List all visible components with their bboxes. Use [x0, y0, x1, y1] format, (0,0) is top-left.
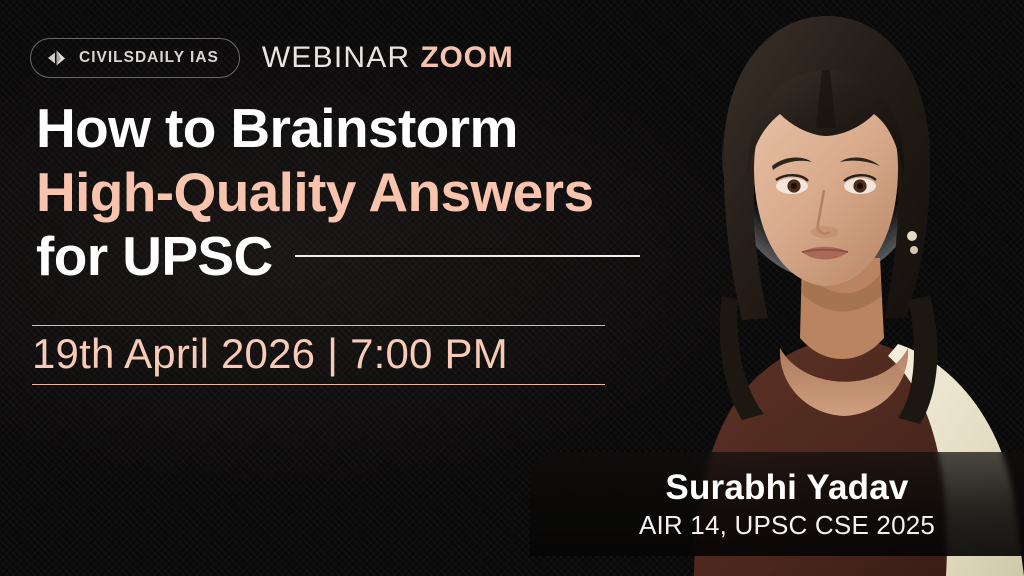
webinar-word: WEBINAR: [262, 41, 410, 75]
webinar-promo-banner: CIVILSDAILY IAS WEBINAR ZOOM How to Brai…: [0, 0, 1024, 576]
civilsdaily-logo-text: CIVILSDAILY IAS: [79, 49, 219, 67]
headline-divider-rule: [295, 255, 640, 257]
webinar-platform-label: WEBINAR ZOOM: [262, 41, 514, 75]
schedule-text: 19th April 2026 | 7:00 PM: [32, 330, 605, 378]
speaker-name-plate: Surabhi Yadav AIR 14, UPSC CSE 2025: [530, 452, 1024, 556]
headline-block: How to Brainstorm High-Quality Answers f…: [36, 96, 716, 288]
headline-line-3: for UPSC: [36, 224, 273, 288]
speaker-credential: AIR 14, UPSC CSE 2025: [639, 509, 935, 541]
civilsdaily-flag-icon: [47, 47, 69, 69]
headline-line-3-row: for UPSC: [36, 224, 716, 288]
banner-header-row: CIVILSDAILY IAS WEBINAR ZOOM: [30, 36, 514, 80]
headline-line-1: How to Brainstorm: [36, 96, 716, 160]
zoom-platform-word: ZOOM: [420, 41, 513, 75]
speaker-name: Surabhi Yadav: [665, 467, 908, 508]
schedule-strip: 19th April 2026 | 7:00 PM: [32, 325, 605, 385]
civilsdaily-logo-badge: CIVILSDAILY IAS: [30, 38, 240, 78]
headline-line-2: High-Quality Answers: [36, 160, 716, 224]
